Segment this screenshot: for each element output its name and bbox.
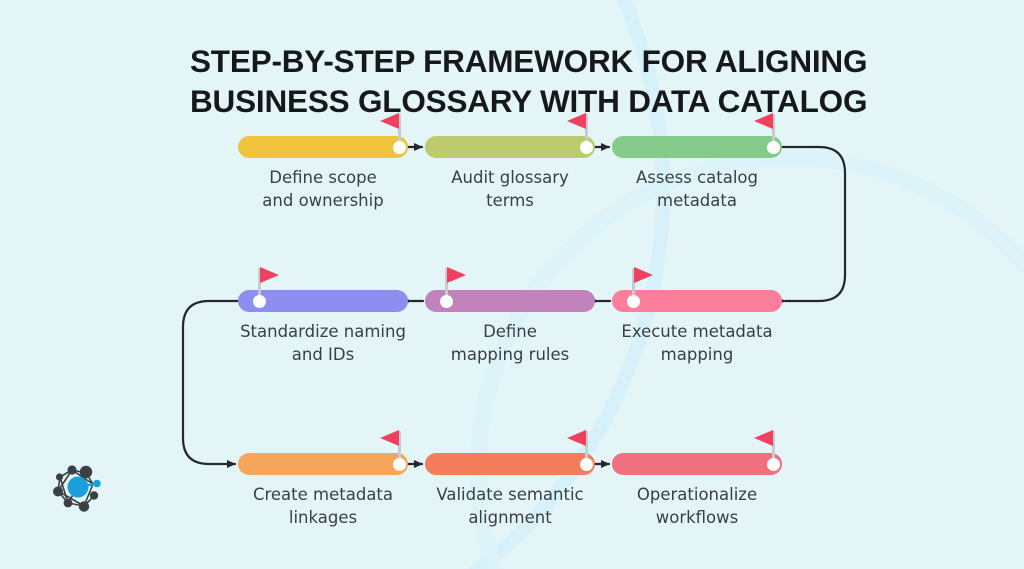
flag-icon xyxy=(380,430,399,446)
step-label-line: and IDs xyxy=(173,344,473,367)
network-nodes-logo xyxy=(48,459,108,519)
step-node-dot xyxy=(767,141,780,154)
step-node-dot xyxy=(253,295,266,308)
step-bar[interactable] xyxy=(238,136,408,158)
infographic-slide: STEP-BY-STEP FRAMEWORK FOR ALIGNING BUSI… xyxy=(0,0,1024,569)
flag-icon xyxy=(754,113,773,129)
step-label-line: workflows xyxy=(547,507,847,530)
step-node-dot xyxy=(627,295,640,308)
step-bar[interactable] xyxy=(425,453,595,475)
flag-icon xyxy=(567,430,586,446)
step-label: Assess catalogmetadata xyxy=(547,167,847,212)
step-node-dot xyxy=(580,458,593,471)
step-label: Operationalizeworkflows xyxy=(547,484,847,529)
step-node-dot xyxy=(767,458,780,471)
step-node-dot xyxy=(580,141,593,154)
flag-icon xyxy=(260,267,279,283)
step-label-line: metadata xyxy=(547,190,847,213)
step-bar[interactable] xyxy=(612,453,782,475)
flag-icon xyxy=(567,113,586,129)
step-node-dot xyxy=(393,458,406,471)
step-label: Standardize namingand IDs xyxy=(173,321,473,366)
step-bar[interactable] xyxy=(612,136,782,158)
step-node-dot xyxy=(393,141,406,154)
flag-icon xyxy=(634,267,653,283)
flag-icon xyxy=(447,267,466,283)
step-bar[interactable] xyxy=(425,136,595,158)
step-bar[interactable] xyxy=(238,453,408,475)
step-label-line: Standardize naming xyxy=(173,321,473,344)
process-flow-diagram: Define scopeand ownershipAudit glossaryt… xyxy=(0,0,1024,569)
flag-icon xyxy=(380,113,399,129)
step-label-line: Assess catalog xyxy=(547,167,847,190)
flag-icon xyxy=(754,430,773,446)
step-label-line: Operationalize xyxy=(547,484,847,507)
step-node-dot xyxy=(440,295,453,308)
